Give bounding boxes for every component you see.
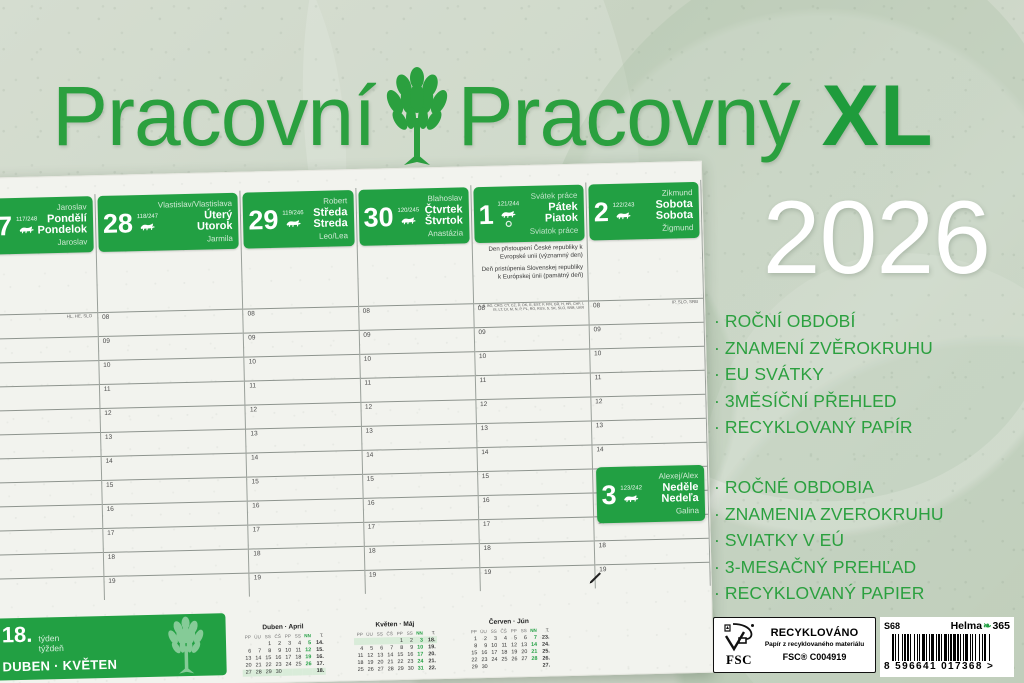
leaf-icon: ❧ [983,621,991,632]
hour-label: 13 [105,434,112,441]
mini-calendar-day[interactable]: 17 [488,649,498,656]
mini-calendar-day[interactable]: 19 [302,654,312,661]
hour-row-18[interactable]: 18 [0,552,103,579]
mini-calendar-day[interactable]: 17 [414,651,424,658]
mini-calendar-day[interactable]: 21 [384,659,394,666]
mini-calendar-day[interactable]: 17 [282,654,292,661]
hour-row-13[interactable]: 13 [477,420,592,447]
mini-calendar-day[interactable]: 17. [312,660,325,667]
day-of-year: 117/248 [16,216,37,223]
mini-calendar-day[interactable]: 18 [292,654,302,661]
day-names: RobertStředaStredaLeo/Lea [303,195,348,242]
hour-row-13[interactable]: 13 [101,429,246,456]
day-header-28[interactable]: 28118/247Vlastislav/VlastislavaÚterýUtor… [97,193,239,252]
hour-row-17[interactable]: 17 [364,519,479,546]
hour-label: 19 [369,571,376,578]
hour-rows: 08A, B, BG, CRO, CY, CZ, D, DK, E, EST, … [474,301,595,592]
hour-corner-note: HL, HE, SLO [0,313,97,321]
mini-calendar-day[interactable]: 20 [242,662,252,669]
holiday-note-cz: Den přistoupení České republiky k Evrops… [476,244,582,262]
hour-row-14[interactable]: 14 [247,450,362,477]
mini-calendar-day[interactable]: 22. [425,665,438,672]
mini-calendar-day[interactable]: 29 [469,664,479,671]
mini-calendar-day[interactable]: 21 [252,662,262,669]
calendar-sheet: 27117/248JaroslavPondělíPondelokJaroslav… [0,161,714,683]
mini-calendar-day[interactable]: 10 [488,642,498,649]
mini-calendar-day[interactable]: 27 [375,666,385,673]
mini-calendar-day[interactable]: 20 [518,648,528,655]
day-meta: 118/247 [137,214,159,232]
hour-label: 11 [364,380,371,387]
year-label: 2026 [763,186,990,290]
mini-calendar-day[interactable]: 13 [374,652,384,659]
mini-calendar-day[interactable]: 25 [498,656,508,663]
title-word-sk: Pracovný [458,74,800,158]
feature-item: 3MĚSÍČNÍ PŘEHLED [714,388,933,415]
hour-row-08[interactable]: 08 [244,306,359,333]
mini-calendar-day[interactable]: 30 [405,666,415,673]
mini-calendar-day[interactable]: 19. [424,643,437,650]
tree-icon [384,66,450,166]
hour-label: 15 [367,476,374,483]
mini-calendar-day[interactable]: 23 [272,661,282,668]
mini-calendar-day[interactable] [283,668,293,675]
mini-calendar-day[interactable]: 20 [374,659,384,666]
holiday-note-sk: Deň pristúpenia Slovenskej republiky k E… [477,264,583,282]
mini-calendar-title: Červen · Jún [468,617,551,626]
day-of-year: 123/242 [620,485,642,493]
hour-row-18[interactable]: 18 [479,540,594,567]
day-header-29[interactable]: 29119/246RobertStředaStredaLeo/Lea [243,190,354,249]
hour-label: 15 [106,482,113,489]
calendar-bottom-strip: 18. týden týždeň DUBEN · KVĚTEN APRÍL · … [0,586,713,683]
mini-calendar: Červen · JúnPPÚUSSČŠPPSSNNT.123456723.89… [468,617,552,671]
hour-label: 19 [108,578,115,585]
nameday-bottom: Jarmila [158,232,233,245]
mini-calendar-day[interactable]: 30 [273,669,283,676]
pencil-icon [586,570,602,586]
hour-label: 12 [480,401,487,408]
mini-calendar: Květen · MájPPÚUSSČŠPPSSNNT.12318.456789… [354,620,438,674]
hour-row-18[interactable]: 18 [104,548,249,575]
mini-calendar-day[interactable]: 24 [414,658,424,665]
week-months-sk: APRÍL · MÁJ [3,675,219,680]
mini-calendar-day[interactable]: 16 [272,654,282,661]
hour-row-16[interactable]: 16 [478,492,593,519]
hour-row-15[interactable]: 15 [102,477,247,504]
feature-item: RECYKLOVANÝ PAPÍR [714,414,933,441]
hour-row-14[interactable]: 14 [101,453,246,480]
mini-calendar-day[interactable]: 18. [424,636,437,643]
hour-label: 09 [363,332,370,339]
day-number: 27 [0,213,13,241]
brand-logo: Helma ❧ 365 [951,620,1010,632]
hour-label: 08 [478,305,485,312]
hour-row-19[interactable]: 19 [250,570,365,597]
day-number-group: 3123/242 [601,481,642,509]
hour-label: 13 [481,425,488,432]
fsc-tree-checkmark-icon [722,622,756,652]
hour-row-12[interactable]: 12 [100,405,245,432]
mini-calendar-table: PPÚUSSČŠPPSSNNT.1234514.678910111215.131… [242,632,325,677]
mini-calendar-day[interactable]: 16 [478,649,488,656]
hour-label: 14 [481,449,488,456]
hour-row-12[interactable]: 12 [591,394,706,421]
mini-calendar-day[interactable]: 21 [528,648,538,655]
hour-row-08[interactable]: 08IP, SLO, SRB [589,298,704,325]
hour-label: 08 [593,302,600,309]
mini-calendar-day[interactable]: 18. [313,668,326,675]
hour-label: 10 [479,353,486,360]
mini-calendar-day[interactable]: 14 [528,641,538,648]
hour-row-19[interactable]: 19 [480,564,595,591]
hour-label: 18 [108,554,115,561]
hour-row-19[interactable]: 19 [365,567,480,594]
hour-label: 17 [253,526,260,533]
hour-row-13[interactable]: 13 [0,432,100,459]
hour-row-10[interactable]: 10 [245,354,360,381]
mini-calendar-day[interactable]: 22 [468,657,478,664]
mini-calendar-day[interactable]: 30 [479,664,489,671]
mini-calendar-day[interactable]: 14 [384,652,394,659]
mini-calendar-day[interactable]: 12 [302,646,312,653]
hour-label: 09 [593,326,600,333]
barcode-bars [892,634,1010,661]
mini-calendar-day[interactable] [303,668,313,675]
day-number-group: 30120/245 [363,203,419,231]
hour-row-08[interactable]: 08 [98,309,243,336]
hour-row-18[interactable]: 18 [595,538,710,565]
day-column[interactable]: 2122/243ZikmundSobotaSobotaŽigmund08IP, … [586,180,711,589]
mini-calendar-day[interactable]: 27. [539,662,552,669]
day-header-2[interactable]: 2122/243ZikmundSobotaSobotaŽigmund [588,182,699,241]
mini-calendar-day[interactable]: 29 [395,666,405,673]
hour-label: 13 [366,428,373,435]
hour-row-12[interactable]: 12 [476,396,591,423]
mini-calendar-day[interactable]: 15 [394,651,404,658]
brand-name: Helma [951,620,983,632]
mini-calendar-day[interactable] [499,663,509,670]
mini-calendar-day[interactable]: 22 [394,659,404,666]
mini-calendar-table: PPÚUSSČŠPPSSNNT.123456723.89101112131424… [468,626,551,671]
weekday-sk: Pondelok [37,224,87,237]
mini-calendar-day[interactable]: 23 [478,657,488,664]
mini-calendar-day[interactable]: 28 [385,666,395,673]
mini-calendar-day[interactable]: 10 [282,647,292,654]
nameday-bottom: Galina [642,504,699,517]
hour-label: 14 [596,446,603,453]
mini-calendar-day[interactable]: 31 [415,665,425,672]
fsc-description: Papír z recyklovaného materiálu [759,640,870,650]
day-note-area[interactable] [587,238,702,299]
eu-flag-icon [505,220,512,227]
hour-label: 18 [483,545,490,552]
mini-calendar-day[interactable]: 26 [508,656,518,663]
hour-label: 09 [478,329,485,336]
mini-calendar-day[interactable] [519,663,529,670]
week-label-cz: týden [38,633,59,643]
hour-row-09[interactable]: 09 [0,336,98,363]
fsc-wordmark: FSC [719,652,759,668]
hour-row-11[interactable]: 11 [475,372,590,399]
mini-calendar-day[interactable]: 11 [498,642,508,649]
mini-calendar-day[interactable]: 12 [364,652,374,659]
hour-label: 13 [250,430,257,437]
hour-label: 11 [480,377,487,384]
mini-calendar-day[interactable] [509,663,519,670]
mini-calendar-day[interactable]: 28 [528,655,538,662]
day-number-group: 27117/248 [0,212,38,240]
fsc-recycled-label: RECYKLOVÁNO [759,628,870,638]
mini-calendar-day[interactable]: 26. [538,655,551,662]
mini-calendar-day[interactable]: 26 [365,666,375,673]
day-meta: 120/245 [397,207,419,226]
mini-calendar: Duben · AprilPPÚUSSČŠPPSSNNT.1234514.678… [242,623,326,677]
weekday-sk: Sobota [635,210,694,223]
mini-calendar-day[interactable]: 15 [468,650,478,657]
hour-rows: 080910111213141516171819 [359,303,480,594]
mini-calendar-day[interactable]: 10 [414,644,424,651]
hour-row-09[interactable]: 09 [99,333,244,360]
hour-row-15[interactable]: 15 [0,480,102,507]
mini-calendar-day[interactable]: 15 [262,654,272,661]
hour-label: 17 [368,523,375,530]
mini-calendar-day[interactable]: 24. [538,641,551,648]
day-meta: 123/242 [620,485,642,504]
nameday-bottom: Žigmund [635,222,694,235]
hour-row-09[interactable]: 09 [474,325,589,352]
hour-row-18[interactable]: 18 [364,543,479,570]
mini-calendar-day[interactable]: 18 [354,660,364,667]
mini-calendar-day[interactable]: 15. [312,646,325,653]
day-column[interactable]: 29119/246RobertStředaStredaLeo/Lea080910… [241,188,366,597]
day-number: 3 [601,481,617,508]
mini-calendar-day[interactable]: 29 [263,669,273,676]
day-header-27[interactable]: 27117/248JaroslavPondělíPondelokJaroslav [0,196,94,255]
day-names: Svátek prácePátekPiatokSviatok práce [519,190,578,237]
day-meta: 119/246 [282,210,304,228]
fsc-code: FSC® C004919 [759,652,870,662]
day-note-area[interactable] [97,249,243,310]
mini-calendar-day[interactable] [489,664,499,671]
day-number: 30 [363,204,394,232]
day-header-30[interactable]: 30120/245BlahoslavČtvrtekŠtvrtokAnastázi… [358,187,469,246]
mini-calendar-day[interactable]: 27 [243,669,253,676]
hour-label: 11 [249,382,256,389]
hour-row-16[interactable]: 16 [363,495,478,522]
feature-item: ZNAMENIA ZVEROKRUHU [714,501,944,528]
hour-row-09[interactable]: 09 [589,322,704,349]
day-column[interactable]: 27117/248JaroslavPondělíPondelokJaroslav… [0,194,105,603]
barcode-digits: 8 596641 017368 > [884,661,1010,672]
hour-row-12[interactable]: 12 [361,399,476,426]
hour-label: 10 [594,350,601,357]
day-column[interactable]: 1121/244Svátek prácePátekPiatokSviatok p… [471,183,596,592]
hour-label: 08 [102,314,109,321]
mini-calendar-day[interactable] [293,668,303,675]
taurus-icon [285,217,302,228]
hour-label: 11 [104,386,111,393]
mini-calendar-day[interactable]: 25 [292,661,302,668]
day-header-1[interactable]: 1121/244Svátek prácePátekPiatokSviatok p… [473,185,584,244]
hour-row-10[interactable]: 10 [475,348,590,375]
hour-row-16[interactable]: 16 [0,504,102,531]
hour-row-14[interactable]: 14 [0,456,101,483]
hour-label: 18 [368,547,375,554]
hour-row-08[interactable]: 08HL, HE, SLO [0,312,98,339]
hour-row-15[interactable]: 15 [478,468,593,495]
hour-label: 10 [364,356,371,363]
hour-row-19[interactable]: 19 [104,572,249,599]
feature-item: SVIATKY V EÚ [714,527,944,554]
hour-row-08[interactable]: 08 [359,303,474,330]
hour-row-17[interactable]: 17 [103,524,248,551]
day-columns: 27117/248JaroslavPondělíPondelokJaroslav… [0,180,711,603]
mini-calendar-day[interactable]: 13 [242,655,252,662]
hour-label: 10 [103,362,110,369]
mini-calendar-day[interactable]: 21. [424,658,437,665]
mini-calendar-day[interactable]: 12 [508,642,518,649]
mini-calendar-day[interactable]: 11 [354,652,364,659]
nameday-bottom: Jaroslav [38,236,88,249]
hour-row-11[interactable]: 11 [360,375,475,402]
hour-row-11[interactable]: 11 [0,384,99,411]
day-number: 28 [103,210,134,238]
hour-label: 12 [250,406,257,413]
hour-rows: 08IP, SLO, SRB0910111213141516171819 [589,298,710,589]
mini-calendar-row: 293027. [469,662,552,671]
hour-rows: 080910111213141516171819 [98,309,249,600]
hour-row-11[interactable]: 11 [591,370,706,397]
hour-label: 12 [104,410,111,417]
hour-row-17[interactable]: 17 [249,522,364,549]
mini-calendar-day[interactable]: 25. [538,648,551,655]
hour-row-16[interactable]: 16 [248,498,363,525]
day-column[interactable]: 30120/245BlahoslavČtvrtekŠtvrtokAnastázi… [356,185,481,594]
mini-calendar-day[interactable]: 19 [364,659,374,666]
hour-row-10[interactable]: 10 [0,360,99,387]
taurus-icon [400,215,417,226]
hour-row-14[interactable]: 14 [362,447,477,474]
eu-country-codes: A, B, BG, CRO, CY, CZ, D, DK, E, EST, F,… [474,302,588,313]
hour-row-10[interactable]: 10 [99,357,244,384]
mini-calendar-day[interactable]: 23 [404,658,414,665]
hour-row-15[interactable]: 15 [247,474,362,501]
day-names: JaroslavPondělíPondelokJaroslav [37,201,88,248]
hour-corner-note: IP, SLO, SRB [589,299,703,307]
hour-label: 08 [248,310,255,317]
hour-row-09[interactable]: 09 [244,330,359,357]
hour-row-10[interactable]: 10 [360,351,475,378]
hour-row-12[interactable]: 12 [0,408,100,435]
hour-label: 09 [103,338,110,345]
mini-calendar-day[interactable]: 13 [518,641,528,648]
mini-calendar-day[interactable] [529,663,539,670]
mini-calendar-day[interactable]: 18 [498,649,508,656]
mini-calendar-day[interactable]: 27 [518,656,528,663]
hour-row-18[interactable]: 18 [249,546,364,573]
day-of-year: 118/247 [137,214,158,221]
hour-row-11[interactable]: 11 [100,381,245,408]
mini-calendar-day[interactable]: 20. [424,651,437,658]
feature-item: ROČNÉ OBDOBIA [714,474,944,501]
mini-calendar-day[interactable]: 22 [262,662,272,669]
barcode-space [990,634,991,661]
hour-label: 14 [105,458,112,465]
hour-label: 19 [254,574,261,581]
taurus-icon [615,209,632,220]
day-number-group: 28118/247 [103,209,159,237]
mini-calendar-day[interactable]: 14. [312,639,325,646]
title-size-label: XL [822,73,934,159]
barcode-block: S68 Helma ❧ 365 8 596641 017368 > [880,617,1014,677]
day-number: 2 [593,199,609,226]
hour-row-13[interactable]: 13 [361,423,476,450]
hour-row-16[interactable]: 16 [103,500,248,527]
weekday-sk: Piatok [519,213,578,226]
hour-row-08[interactable]: 08A, B, BG, CRO, CY, CZ, D, DK, E, EST, … [474,301,589,328]
fsc-text-block: RECYKLOVÁNO Papír z recyklovaného materi… [759,628,870,662]
hour-row-12[interactable]: 12 [246,402,361,429]
day-names: Alexej/AlexNeděleNedeľaGalina [642,470,699,517]
day-note-area[interactable] [0,252,97,313]
mini-calendar-day[interactable]: 26 [302,661,312,668]
mini-calendar-day[interactable]: 16 [404,651,414,658]
taurus-icon [500,208,517,219]
mini-calendar-day[interactable]: 25 [355,667,365,674]
hour-row-11[interactable]: 11 [245,378,360,405]
day-number-group: 29119/246 [248,206,304,234]
hour-row-13[interactable]: 13 [246,426,361,453]
day-note-area[interactable] [242,246,357,307]
day-number-group: 2122/243 [593,198,634,226]
weekday-sk: Štvrtok [419,215,463,228]
hour-row-13[interactable]: 13 [592,418,707,445]
day-note-area[interactable]: Den přistoupení České republiky k Evrops… [472,241,587,302]
hour-rows: 080910111213141516171819 [244,306,365,597]
mini-calendar-day[interactable]: 23. [538,634,551,641]
hour-rows: 08HL, HE, SLO0910111213141516171819 [0,312,104,603]
day-number-group: 1121/244 [478,201,519,229]
day-meta: 121/244 [497,201,519,228]
hour-row-19[interactable]: 19 [595,562,710,589]
hour-row-10[interactable]: 10 [590,346,705,373]
taurus-icon [623,492,640,503]
mini-calendar-day[interactable]: 24 [282,661,292,668]
day-meta: 122/243 [613,202,635,221]
hour-row-17[interactable]: 17 [0,528,103,555]
hour-row-09[interactable]: 09 [359,327,474,354]
hour-row-14[interactable]: 14 [477,444,592,471]
mini-calendar-day[interactable]: 28 [253,669,263,676]
hour-label: 12 [595,398,602,405]
day-names: Vlastislav/VlastislavaÚterýUtorokJarmila [158,198,233,246]
hour-label: 08 [363,308,370,315]
hour-label: 15 [482,473,489,480]
mini-calendar-day[interactable]: 11 [292,647,302,654]
hour-row-17[interactable]: 17 [479,516,594,543]
mini-calendar-day[interactable]: 14 [252,655,262,662]
mini-calendar-day[interactable]: 24 [488,656,498,663]
day-header-3[interactable]: 3123/242Alexej/AlexNeděleNedeľaGalina [596,465,705,524]
mini-calendar-day[interactable]: 19 [508,649,518,656]
day-note-area[interactable] [357,243,472,304]
hour-row-19[interactable]: 19 [0,576,104,603]
hour-row-15[interactable]: 15 [363,471,478,498]
tree-icon [159,615,212,674]
mini-calendar-day[interactable]: 16. [312,653,325,660]
day-column[interactable]: 28118/247Vlastislav/VlastislavaÚterýUtor… [95,191,250,600]
